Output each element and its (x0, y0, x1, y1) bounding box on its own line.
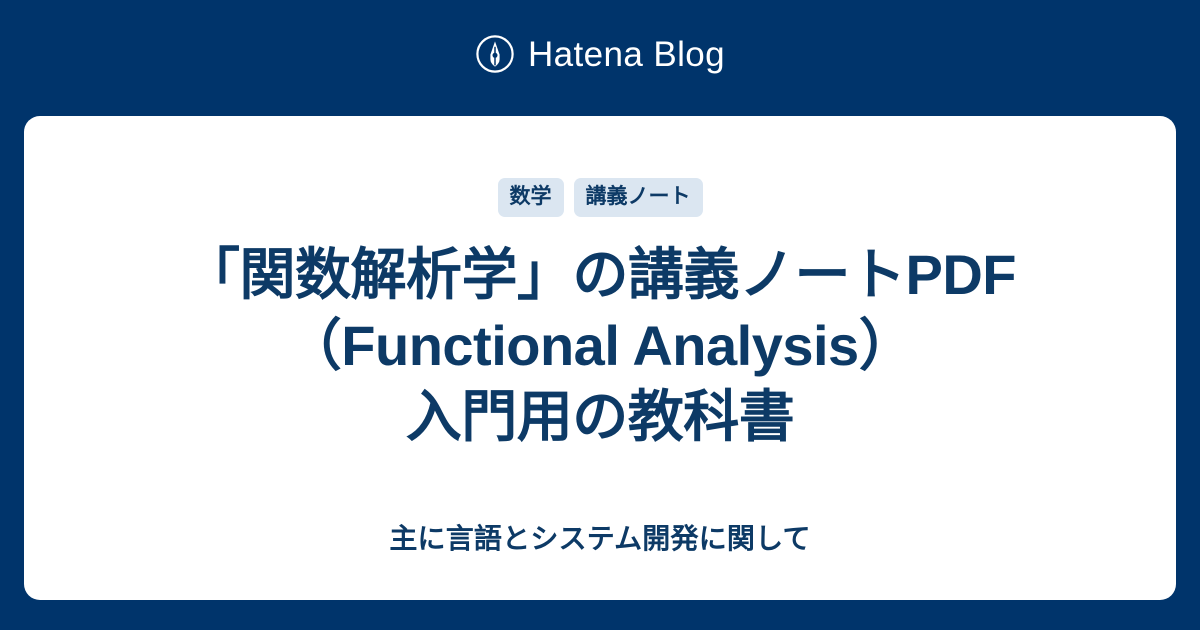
blog-subtitle: 主に言語とシステム開発に関して (24, 522, 1176, 556)
tag-item[interactable]: 講義ノート (574, 178, 703, 217)
entry-title: 「関数解析学」の講義ノートPDF （Functional Analysis） 入… (184, 239, 1016, 452)
brand-header: Hatena Blog (0, 0, 1200, 116)
entry-title-line: （Functional Analysis） (184, 310, 1016, 381)
tag-list: 数学 講義ノート (498, 178, 703, 217)
hatena-pen-nib-icon (475, 34, 515, 74)
entry-title-line: 「関数解析学」の講義ノートPDF (184, 239, 1016, 310)
entry-title-line: 入門用の教科書 (184, 381, 1016, 452)
brand-name: Hatena Blog (528, 37, 725, 72)
tag-item[interactable]: 数学 (498, 178, 564, 217)
entry-card-panel: 数学 講義ノート 「関数解析学」の講義ノートPDF （Functional An… (24, 116, 1176, 600)
hatena-blog-og-card: Hatena Blog 数学 講義ノート 「関数解析学」の講義ノートPDF （F… (0, 0, 1200, 630)
